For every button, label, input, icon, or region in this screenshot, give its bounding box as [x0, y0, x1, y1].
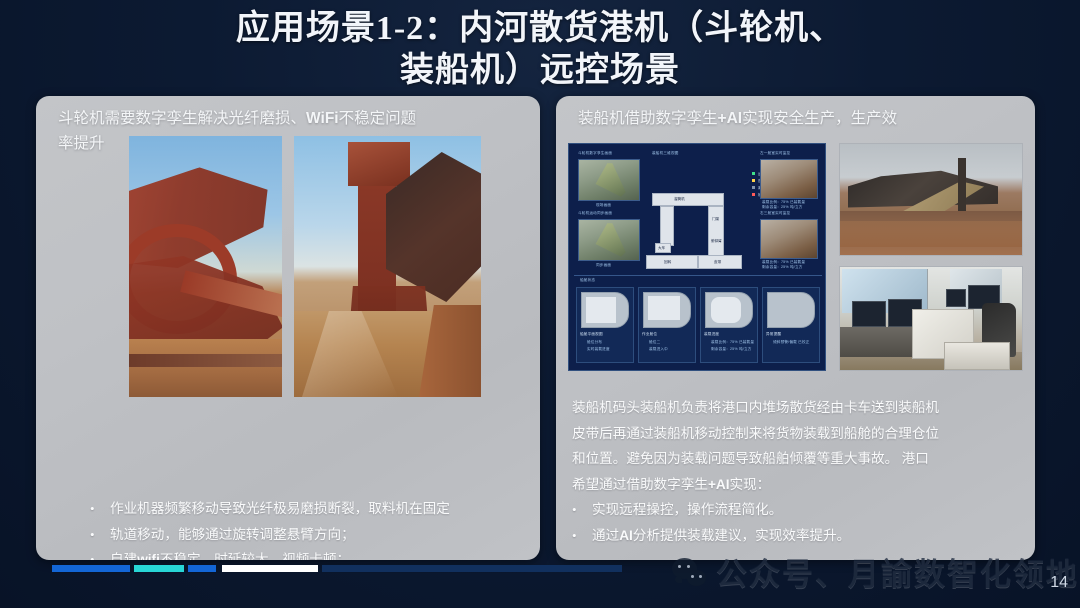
bullet-marker-icon: • — [572, 497, 592, 523]
dash-camera-feed[interactable] — [578, 219, 640, 261]
page-number: 14 — [1050, 574, 1068, 592]
bullet-marker-icon: • — [572, 523, 592, 549]
accent-segment-1 — [52, 565, 130, 572]
dash-hold-camera[interactable] — [760, 219, 818, 259]
bullet-marker-icon: • — [90, 547, 110, 560]
hold-card-line: 装载进入中 — [649, 347, 668, 352]
right-content-panel: 装船机借助数字孪生+AI实现安全生产，生产效 斗轮机数字孪生画面 现场画面 斗轮… — [556, 96, 1035, 560]
dash-section-label: 左一舱室实时监控 — [760, 151, 790, 156]
title-line-2: 装船机）远控场景 — [0, 50, 1080, 92]
list-item: • 通过AI分析提供装载建议，实现效率提升。 — [572, 523, 1024, 549]
paragraph: 装船机码头装船机负责将港口内堆场散货经由卡车送到装船机 — [572, 395, 1024, 421]
dash-section-label: 斗轮机运动同步画面 — [578, 211, 612, 216]
list-item: • 作业机器频繁移动导致光纤极易磨损断裂，取料机在固定 — [90, 496, 540, 522]
list-item: • 实现远程操控，操作流程简化。 — [572, 497, 1024, 523]
hold-card-title: 作业舱位 — [642, 332, 657, 337]
dash-section-label: 斗轮机数字孪生画面 — [578, 151, 612, 156]
title-line-1: 应用场景1-2：内河散货港机（斗轮机、 — [0, 8, 1080, 50]
photo-bucket-wheel-reclaimer-wide — [294, 136, 481, 397]
lead-in-bold: +AI — [708, 477, 730, 492]
bullet-text: 轨道移动，能够通过旋转调整悬臂方向； — [110, 527, 355, 542]
lead-in-pre: 希望通过借助数字孪生 — [572, 477, 708, 492]
bullet-text-pre: 自建 — [110, 552, 137, 560]
hold-card-line: 倾斜预警/偏载 已校正 — [773, 340, 810, 345]
hold-card[interactable]: 船舱平面视图 舱位分布 实时装载进度 — [576, 287, 634, 363]
diagram-label: 门架 — [712, 217, 719, 222]
ship-loader-diagram: 溜筒机 门架 俯仰臂 大车 回转 皮带 — [646, 193, 742, 269]
dash-photo-caption: 剩余容量：25% 吨/立方 — [762, 205, 803, 210]
bullet-marker-icon: • — [90, 522, 110, 548]
bullet-marker-icon: • — [90, 496, 110, 522]
right-body-text: 装船机码头装船机负责将港口内堆场散货经由卡车送到装船机 皮带后再通过装船机移动控… — [572, 395, 1024, 548]
wechat-icon — [672, 558, 706, 586]
monitor-shape — [852, 301, 886, 327]
bullet-text-bold: wifi — [137, 552, 160, 560]
diagram-label: 俯仰臂 — [711, 239, 722, 244]
left-heading-bold: WiFi — [306, 110, 339, 127]
hold-card[interactable]: 异常提醒 倾斜预警/偏载 已校正 — [762, 287, 820, 363]
right-panel-heading: 装船机借助数字孪生+AI实现安全生产，生产效 — [578, 106, 1027, 131]
accent-segment-3 — [188, 565, 216, 572]
left-photo-group — [129, 136, 481, 397]
right-heading-main: 装船机借助数字孪生 — [578, 110, 718, 127]
dash-section-label: 装船机三维视图 — [652, 151, 679, 156]
paragraph: 和位置。避免因为装载问题导致船舶倾覆等重大事故。 港口 — [572, 446, 1024, 472]
hold-card[interactable]: 装载进度 装载比例：75% 已装载量 剩余容量：25% 吨/立方 — [700, 287, 758, 363]
diagram-label: 溜筒机 — [674, 197, 685, 202]
right-heading-tail: 实现安全生产，生产效 — [742, 110, 897, 127]
ground-shape — [129, 339, 282, 397]
hold-card[interactable]: 作业舱位 舱位二 装载进入中 — [638, 287, 696, 363]
monitor-shape — [946, 289, 966, 307]
reclaimer-head-shape — [348, 142, 410, 186]
slide-title: 应用场景1-2：内河散货港机（斗轮机、 装船机）远控场景 — [0, 8, 1080, 92]
accent-segment-5 — [322, 565, 622, 572]
bullet-text-pre: 通过 — [592, 528, 619, 543]
dash-camera-caption: 现场画面 — [596, 203, 611, 208]
dash-photo-caption: 剩余容量：25% 吨/立方 — [762, 265, 803, 270]
left-bullet-list: • 作业机器频繁移动导致光纤极易磨损断裂，取料机在固定 • 轨道移动，能够通过旋… — [90, 496, 540, 560]
dash-camera-caption: 同步画面 — [596, 263, 611, 268]
hold-card-line: 舱位二 — [649, 340, 660, 345]
accent-segment-2 — [134, 565, 184, 572]
digital-twin-dashboard: 斗轮机数字孪生画面 现场画面 斗轮机运动同步画面 同步画面 装船机三维视图 溜筒… — [568, 143, 826, 371]
bullet-text: 作业机器频繁移动导致光纤极易磨损断裂，取料机在固定 — [110, 501, 450, 516]
right-heading-bold: +AI — [718, 110, 743, 127]
hold-card-title: 装载进度 — [704, 332, 719, 337]
diagram-label: 皮带 — [714, 260, 721, 265]
left-content-panel: 斗轮机需要数字孪生解决光纤磨损、WiFi不稳定问题 率提升 — [36, 96, 540, 560]
slide-root: 应用场景1-2：内河散货港机（斗轮机、 装船机）远控场景 斗轮机需要数字孪生解决… — [0, 0, 1080, 608]
diagram-label: 回转 — [664, 260, 671, 265]
bullet-text-post: 分析提供装载建议，实现效率提升。 — [633, 528, 851, 543]
control-console-shape — [944, 342, 1010, 370]
photo-bucket-wheel-reclaimer-closeup — [129, 136, 282, 397]
hold-card-line: 舱位分布 — [587, 340, 602, 345]
photo-remote-control-room — [839, 266, 1023, 371]
dash-divider — [574, 275, 822, 276]
hold-card-line: 剩余容量：25% 吨/立方 — [711, 347, 752, 352]
lead-in-post: 实现： — [729, 477, 770, 492]
bullet-text: 实现远程操控，操作流程简化。 — [592, 497, 1024, 523]
hold-card-title: 异常提醒 — [766, 332, 781, 337]
paragraph: 皮带后再通过装船机移动控制来将货物装载到船舱的合理仓位 — [572, 421, 1024, 447]
dash-hold-camera[interactable] — [760, 159, 818, 199]
dash-section-label: 船舱状态 — [580, 278, 595, 283]
left-heading-main: 斗轮机需要数字孪生解决光纤磨损、 — [58, 110, 306, 127]
bullet-text-post: 不稳定，时延较大，视频卡顿； — [160, 552, 350, 560]
bullet-text-bold: AI — [619, 528, 633, 543]
list-item: • 自建wifi不稳定，时延较大，视频卡顿； — [90, 547, 540, 560]
dash-camera-feed[interactable] — [578, 159, 640, 201]
diagram-label: 大车 — [658, 246, 665, 251]
accent-segment-4 — [222, 565, 318, 572]
left-heading-tail: 不稳定问题 — [339, 110, 417, 127]
dash-section-label: 右三舱室实时监控 — [760, 211, 790, 216]
lead-in-line: 希望通过借助数字孪生+AI实现： — [572, 472, 1024, 498]
ore-dust-shape — [840, 221, 1022, 247]
rail-shape — [129, 354, 282, 367]
hold-card-line: 装载比例：75% 已装载量 — [711, 340, 754, 345]
hold-card-line: 实时装载进度 — [587, 347, 610, 352]
list-item: • 轨道移动，能够通过旋转调整悬臂方向； — [90, 522, 540, 548]
photo-ship-loader-dock — [839, 143, 1023, 256]
hold-card-title: 船舱平面视图 — [580, 332, 603, 337]
